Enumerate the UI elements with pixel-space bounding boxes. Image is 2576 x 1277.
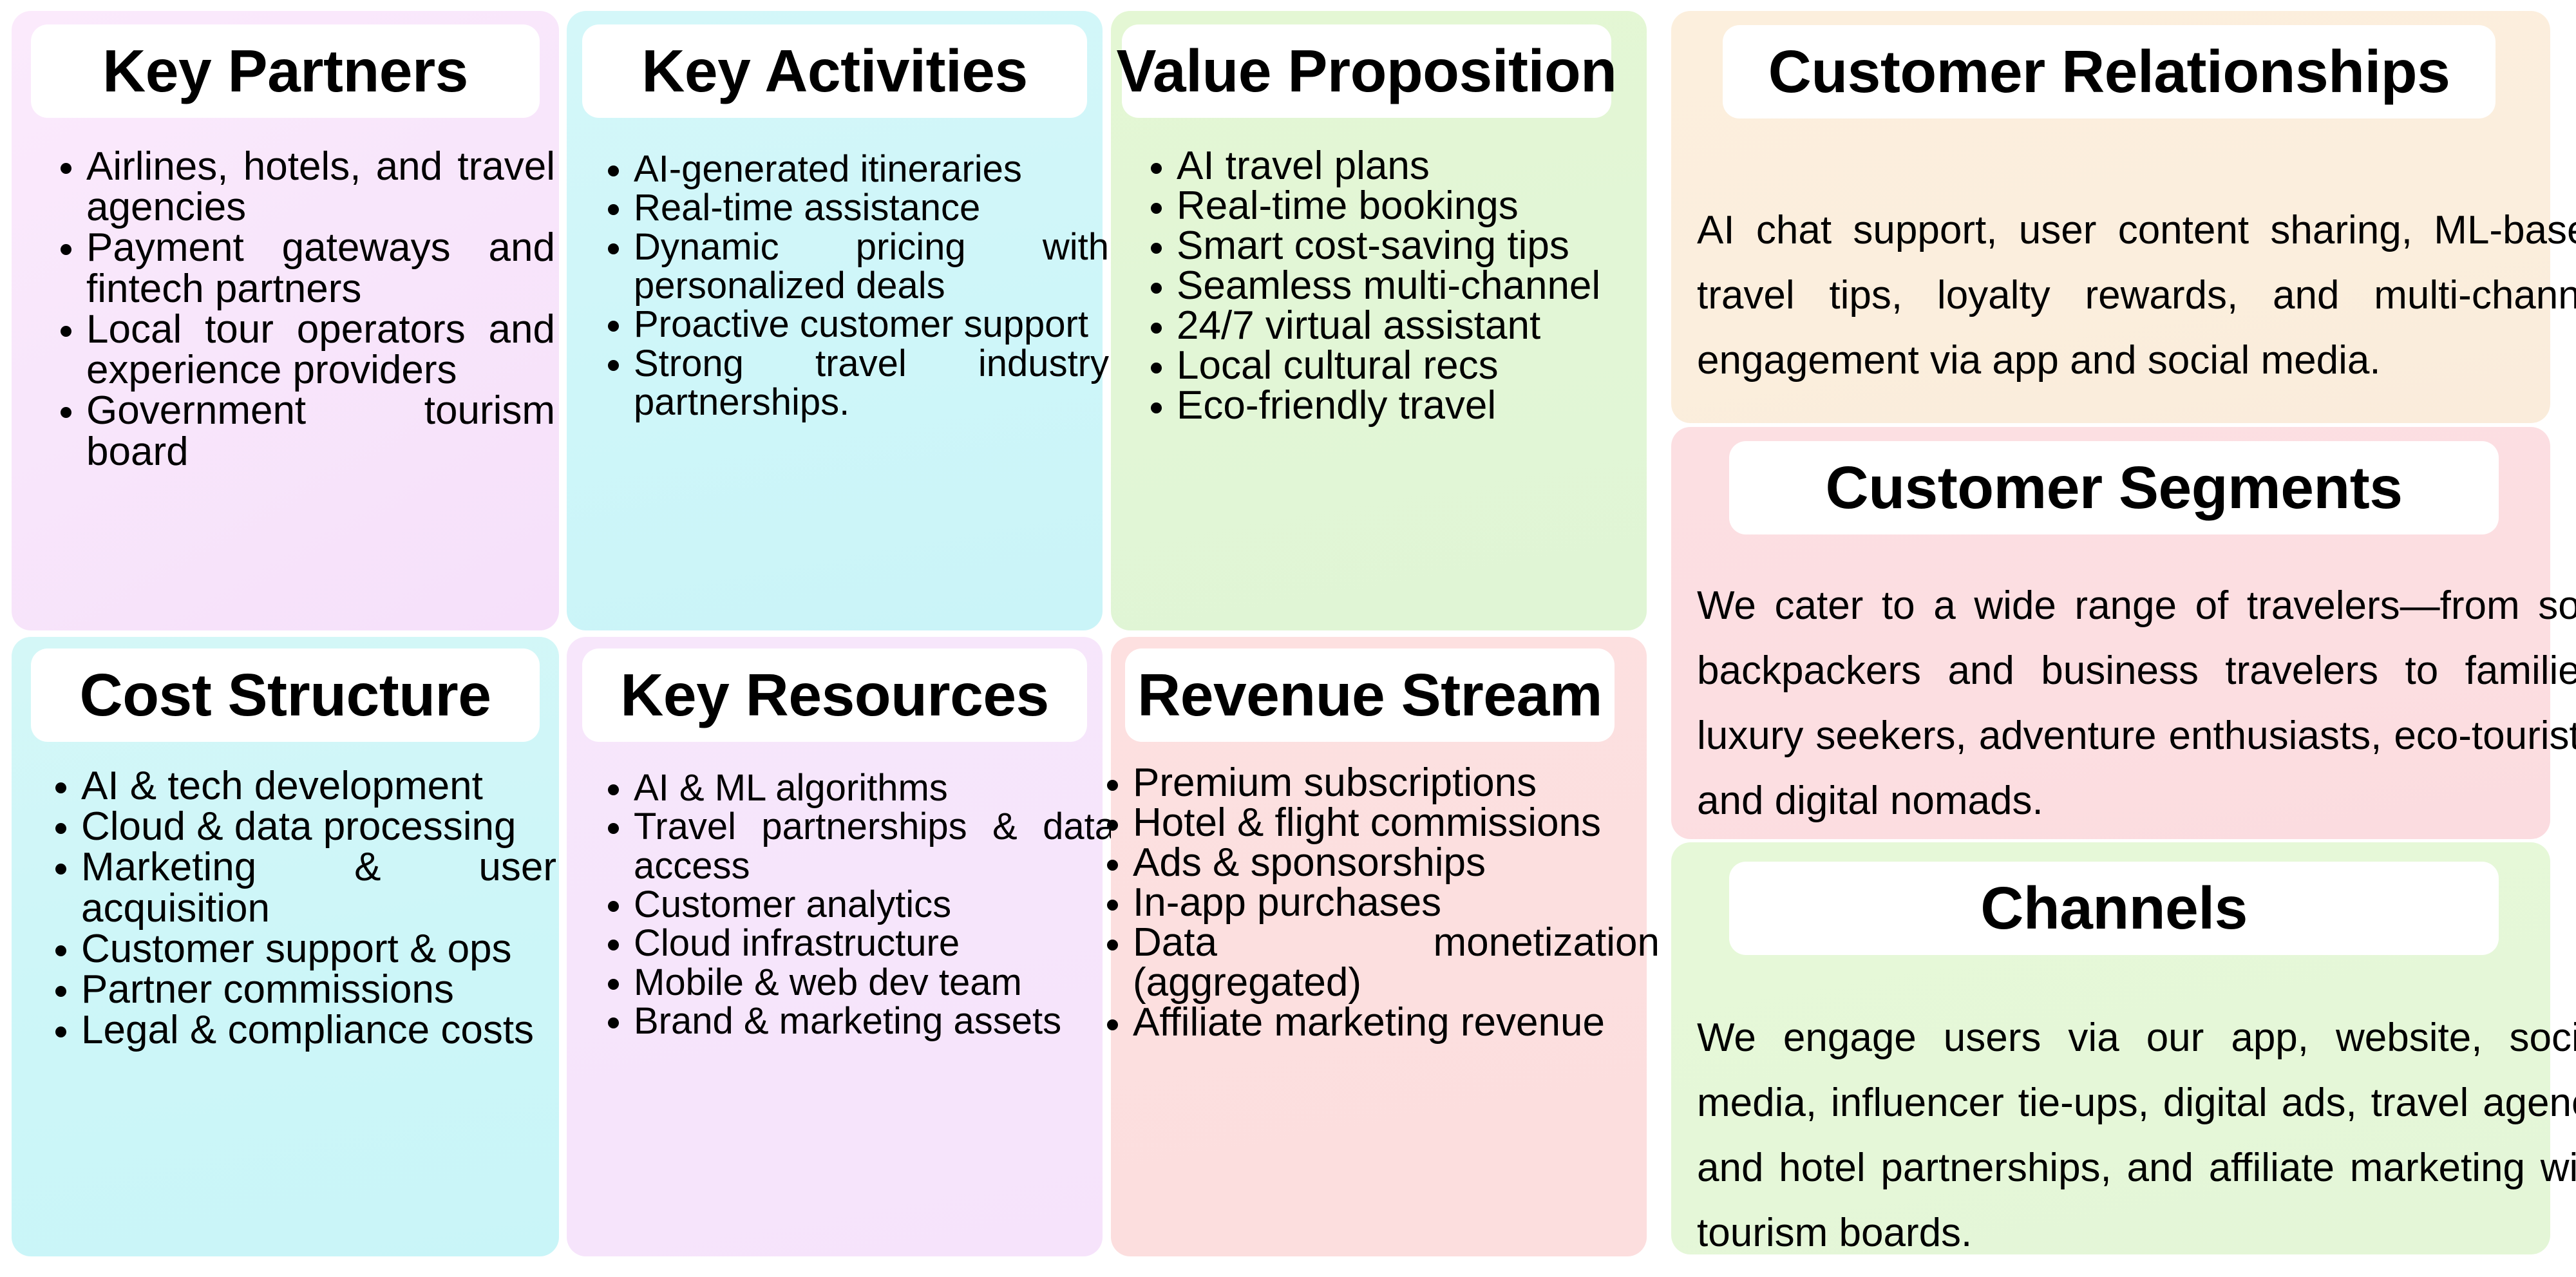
list-item: Real-time bookings [1137,186,1652,226]
title-card-revenue-stream: Revenue Stream [1125,648,1615,742]
list-item: AI-generated itineraries [594,150,1109,189]
panel-customer-segments[interactable]: Customer Segments We cater to a wide ran… [1671,427,2550,839]
panel-customer-relationships[interactable]: Customer Relationships AI chat support, … [1671,11,2550,423]
list-item: 24/7 virtual assistant [1137,306,1652,346]
panel-body-customer-segments: We cater to a wide range of travelers—fr… [1697,573,2576,833]
title-card-channels: Channels [1729,862,2499,955]
panel-key-resources[interactable]: Key Resources AI & ML algorithms Travel … [567,637,1103,1256]
bullet-list-revenue-stream: Premium subscriptions Hotel & flight com… [1093,763,1660,1043]
bullet-list-key-activities: AI-generated itineraries Real-time assis… [594,150,1109,422]
business-model-canvas: Key Partners Airlines, hotels, and trave… [0,0,2576,1277]
list-item: Legal & compliance costs [41,1010,556,1050]
list-item: AI & ML algorithms [594,769,1115,808]
title-card-cost-structure: Cost Structure [31,648,540,742]
list-item: Proactive customer support [594,305,1109,344]
panel-body-customer-relationships: AI chat support, user content sharing, M… [1697,198,2576,393]
list-item: Local cultural recs [1137,346,1652,386]
list-item: In-app purchases [1093,883,1660,923]
list-item: Strong travel industry partnerships. [594,345,1109,422]
list-item: Premium subscriptions [1093,763,1660,803]
panel-title: Channels [1980,878,2248,938]
panel-revenue-stream[interactable]: Revenue Stream Premium subscriptions Hot… [1111,637,1647,1256]
title-card-customer-relationships: Customer Relationships [1723,25,2495,118]
title-card-key-activities: Key Activities [582,24,1087,118]
title-card-value-proposition: Value Proposition [1122,24,1611,118]
panel-title: Key Partners [102,41,468,101]
list-item: Partner commissions [41,969,556,1010]
bullet-list-key-resources: AI & ML algorithms Travel partnerships &… [594,769,1115,1041]
list-item: Cloud infrastructure [594,924,1115,963]
list-item: Airlines, hotels, and travel agencies [46,146,555,227]
list-item: Data monetization (aggregated) [1093,923,1660,1003]
bullet-list-cost-structure: AI & tech development Cloud & data proce… [41,766,556,1051]
list-item: Seamless multi-channel [1137,266,1652,306]
panel-cost-structure[interactable]: Cost Structure AI & tech development Clo… [12,637,559,1256]
list-item: Eco-friendly travel [1137,386,1652,426]
panel-body-channels: We engage users via our app, website, so… [1697,1005,2576,1265]
list-item: Brand & marketing assets [594,1002,1115,1041]
list-item: Customer analytics [594,885,1115,924]
list-item: Cloud & data processing [41,806,556,847]
list-item: AI travel plans [1137,146,1652,186]
list-item: Government tourism board [46,390,555,471]
panel-title: Key Activities [641,41,1028,101]
list-item: Payment gateways and fintech partners [46,227,555,308]
panel-title: Revenue Stream [1137,665,1602,725]
list-item: Customer support & ops [41,929,556,969]
list-item: Smart cost-saving tips [1137,226,1652,266]
bullet-list-key-partners: Airlines, hotels, and travel agencies Pa… [46,146,555,472]
list-item: Travel partnerships & data access [594,808,1115,885]
list-item: Local tour operators and experience prov… [46,309,555,390]
list-item: Mobile & web dev team [594,963,1115,1002]
list-item: Real-time assistance [594,189,1109,227]
bullet-list-value-proposition: AI travel plans Real-time bookings Smart… [1137,146,1652,426]
panel-title: Customer Relationships [1768,42,2450,102]
panel-value-proposition[interactable]: Value Proposition AI travel plans Real-t… [1111,11,1647,630]
list-item: Ads & sponsorships [1093,843,1660,883]
list-item: Marketing & user acquisition [41,847,556,928]
panel-key-activities[interactable]: Key Activities AI-generated itineraries … [567,11,1103,630]
list-item: AI & tech development [41,766,556,806]
list-item: Affiliate marketing revenue [1093,1003,1660,1043]
title-card-key-resources: Key Resources [582,648,1087,742]
panel-title: Value Proposition [1117,41,1617,101]
panel-title: Key Resources [620,665,1049,725]
list-item: Dynamic pricing with personalized deals [594,228,1109,306]
title-card-key-partners: Key Partners [31,24,540,118]
panel-title: Customer Segments [1826,458,2403,518]
panel-title: Cost Structure [80,665,491,725]
list-item: Hotel & flight commissions [1093,803,1660,843]
panel-channels[interactable]: Channels We engage users via our app, we… [1671,842,2550,1254]
panel-key-partners[interactable]: Key Partners Airlines, hotels, and trave… [12,11,559,630]
title-card-customer-segments: Customer Segments [1729,441,2499,534]
